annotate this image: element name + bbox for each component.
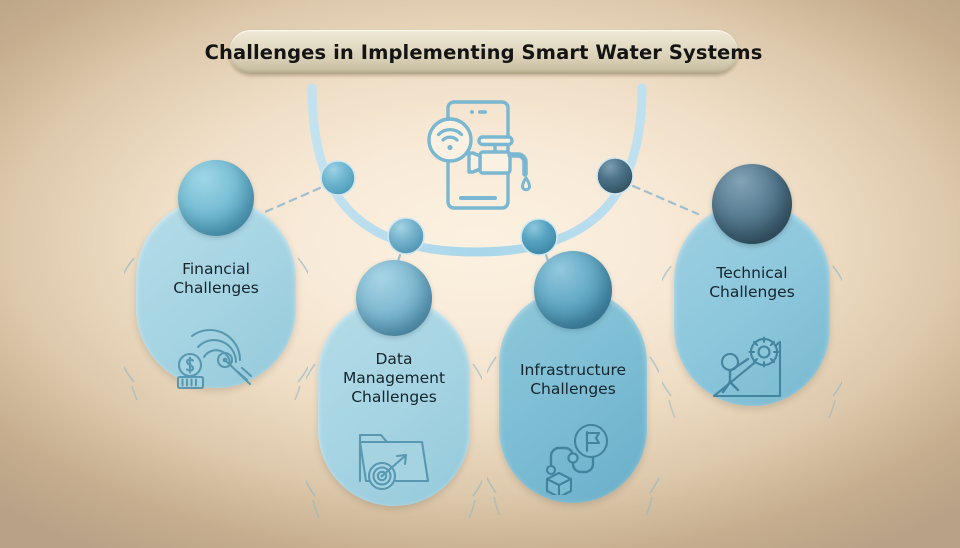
arc-node-3[interactable] xyxy=(521,219,557,255)
card-financial-label: Financial Challenges xyxy=(124,260,308,298)
person-pushing-gear-uphill-icon xyxy=(706,330,798,402)
page-title: Challenges in Implementing Smart Water S… xyxy=(205,41,763,64)
card-financial-label-line-2: Challenges xyxy=(124,279,308,298)
network-flag-box-icon xyxy=(529,423,617,495)
card-infrastructure-label-line-1: Infrastructure xyxy=(487,361,659,380)
card-technical-sphere xyxy=(712,164,792,244)
arc-node-4[interactable] xyxy=(597,158,633,194)
card-data-label-line-1: Data xyxy=(306,350,482,369)
card-data-label-line-3: Challenges xyxy=(306,388,482,407)
smartphone-wifi-faucet-icon xyxy=(416,92,546,222)
arc-node-2[interactable] xyxy=(388,218,424,254)
card-technical-label-line-2: Challenges xyxy=(662,283,842,302)
card-data-label: Data Management Challenges xyxy=(306,350,482,407)
page-title-bar: Challenges in Implementing Smart Water S… xyxy=(229,30,738,74)
card-infrastructure[interactable]: Infrastructure Challenges xyxy=(487,277,659,515)
card-data-label-line-2: Management xyxy=(306,369,482,388)
arc-node-1[interactable] xyxy=(321,161,355,195)
card-infrastructure-label-line-2: Challenges xyxy=(487,380,659,399)
card-infrastructure-label: Infrastructure Challenges xyxy=(487,361,659,399)
folder-target-arrow-icon xyxy=(348,426,440,494)
card-technical-label-line-1: Technical xyxy=(662,264,842,283)
card-data-management[interactable]: Data Management Challenges xyxy=(306,286,482,518)
card-technical[interactable]: Technical Challenges xyxy=(662,190,842,418)
card-data-sphere xyxy=(356,260,432,336)
card-technical-label: Technical Challenges xyxy=(662,264,842,302)
card-infrastructure-sphere xyxy=(534,251,612,329)
card-financial-sphere xyxy=(178,160,254,236)
infographic-canvas: Challenges in Implementing Smart Water S… xyxy=(0,0,960,548)
card-financial-label-line-1: Financial xyxy=(124,260,308,279)
target-dollar-coin-icon xyxy=(170,326,262,392)
card-financial[interactable]: Financial Challenges xyxy=(124,186,308,400)
